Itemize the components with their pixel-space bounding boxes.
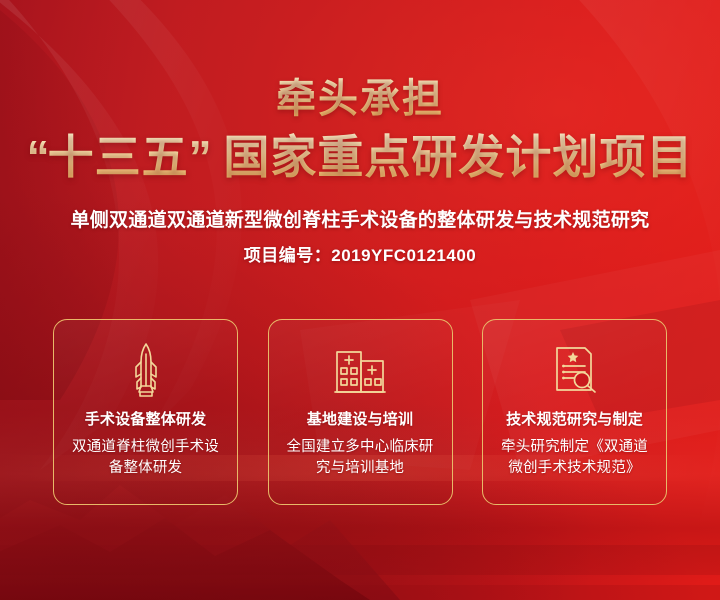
title-line-1: 牵头承担 <box>0 74 720 124</box>
project-number: 项目编号：2019YFC0121400 <box>0 244 720 268</box>
feature-card[interactable]: 手术设备整体研发 双通道脊柱微创手术设备整体研发 <box>53 319 238 505</box>
quote-close: ” <box>189 131 210 183</box>
feature-card[interactable]: 基地建设与培训 全国建立多中心临床研究与培训基地 <box>268 319 453 505</box>
program-name: 十三五 <box>48 131 189 183</box>
feature-card-desc: 双通道脊柱微创手术设备整体研发 <box>54 437 237 479</box>
title-line-2: “十三五” 国家重点研发计划项目 <box>0 128 720 186</box>
promo-banner: 牵头承担 “十三五” 国家重点研发计划项目 单侧双通道双通道新型微创脊柱手术设备… <box>0 0 720 600</box>
feature-card-list: 手术设备整体研发 双通道脊柱微创手术设备整体研发 <box>53 319 667 505</box>
feature-card-title: 技术规范研究与制定 <box>483 410 666 430</box>
document-search-icon <box>483 342 666 398</box>
banner-header: 牵头承担 “十三五” 国家重点研发计划项目 单侧双通道双通道新型微创脊柱手术设备… <box>0 74 720 268</box>
feature-card-desc: 全国建立多中心临床研究与培训基地 <box>269 437 452 479</box>
quote-open: “ <box>27 131 48 183</box>
rocket-icon <box>54 342 237 398</box>
title-line-2-rest: 国家重点研发计划项目 <box>223 131 693 183</box>
feature-card-desc: 牵头研究制定《双通道微创手术技术规范》 <box>483 437 666 479</box>
feature-card[interactable]: 技术规范研究与制定 牵头研究制定《双通道微创手术技术规范》 <box>482 319 667 505</box>
hospital-icon <box>269 342 452 398</box>
banner-subtitle: 单侧双通道双通道新型微创脊柱手术设备的整体研发与技术规范研究 <box>0 208 720 234</box>
feature-card-title: 基地建设与培训 <box>269 410 452 430</box>
feature-card-title: 手术设备整体研发 <box>54 410 237 430</box>
